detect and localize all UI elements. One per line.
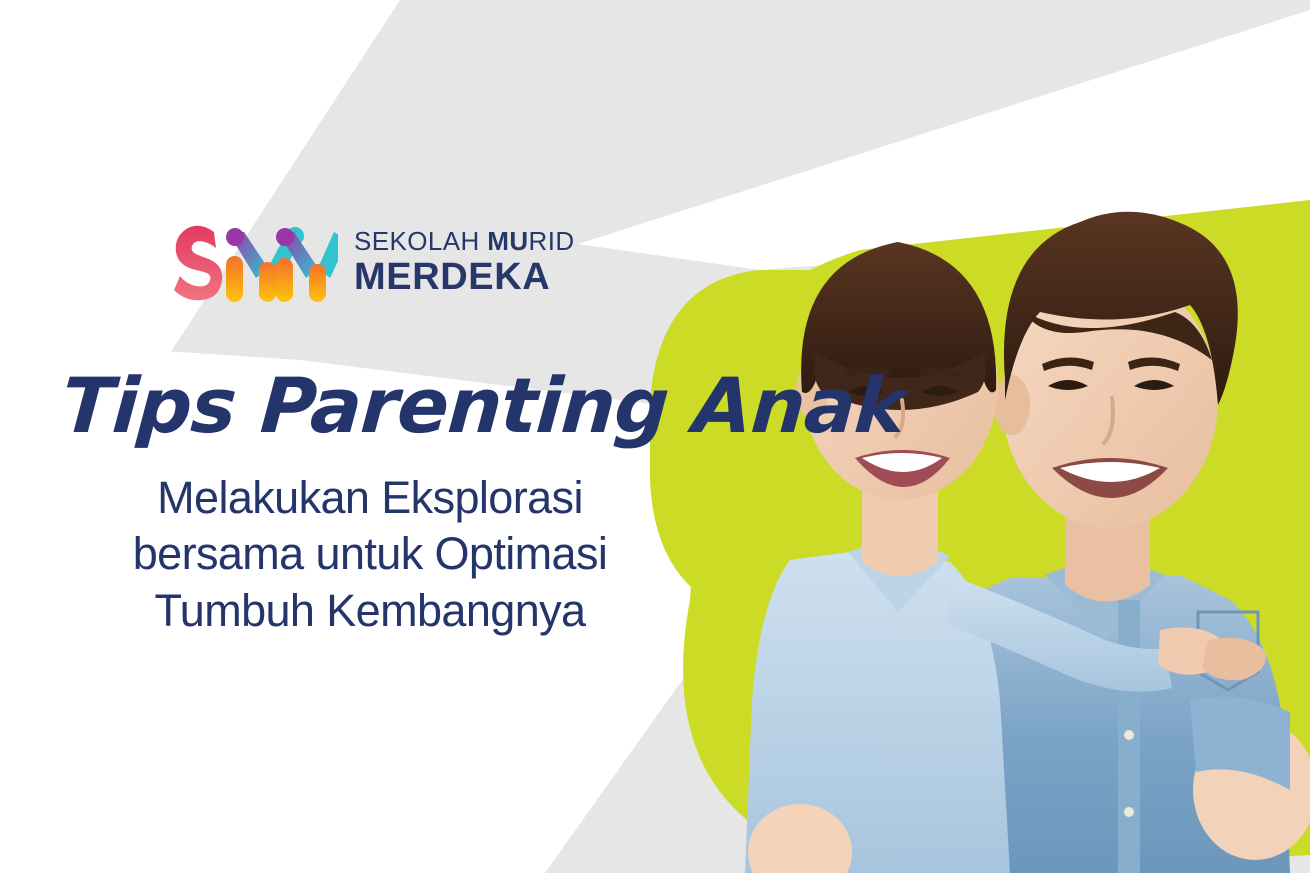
- shirt-button: [1124, 807, 1134, 817]
- headline-title: Tips Parenting Anak: [59, 368, 744, 444]
- logo-m2-bar-left: [276, 258, 293, 302]
- smm-logo-mark: [172, 218, 338, 308]
- banner-canvas: SEKOLAH MURID MERDEKA Tips Parenting Ana…: [0, 0, 1310, 873]
- shirt-button: [1124, 730, 1134, 740]
- logo-m1-bar-left: [226, 256, 243, 302]
- logo-m1-chevron-left-cap: [226, 228, 244, 246]
- subtitle-block: Melakukan Eksplorasi bersama untuk Optim…: [40, 470, 700, 639]
- logo-wordmark-line1: SEKOLAH MURID: [354, 228, 575, 254]
- logo-word-mu: MU: [487, 226, 528, 256]
- logo-word-sekolah: SEKOLAH: [354, 226, 487, 256]
- subtitle-line-1: Melakukan Eksplorasi: [40, 470, 700, 526]
- logo-letter-s: [174, 226, 222, 301]
- smm-logo-wordmark: SEKOLAH MURID MERDEKA: [354, 228, 575, 298]
- man-ear: [994, 375, 1030, 435]
- logo-m1-bar-mid: [259, 262, 276, 302]
- logo-m2-bar-mid: [309, 264, 326, 302]
- subtitle-line-2: bersama untuk Optimasi: [40, 526, 700, 582]
- subtitle-line-3: Tumbuh Kembangnya: [40, 583, 700, 639]
- logo-wordmark-line2: MERDEKA: [354, 258, 575, 296]
- logo-word-rid: RID: [529, 226, 575, 256]
- boy-neck: [862, 490, 938, 576]
- logo-m2-chevron-left-cap: [276, 228, 294, 246]
- smm-logo: SEKOLAH MURID MERDEKA: [172, 213, 592, 313]
